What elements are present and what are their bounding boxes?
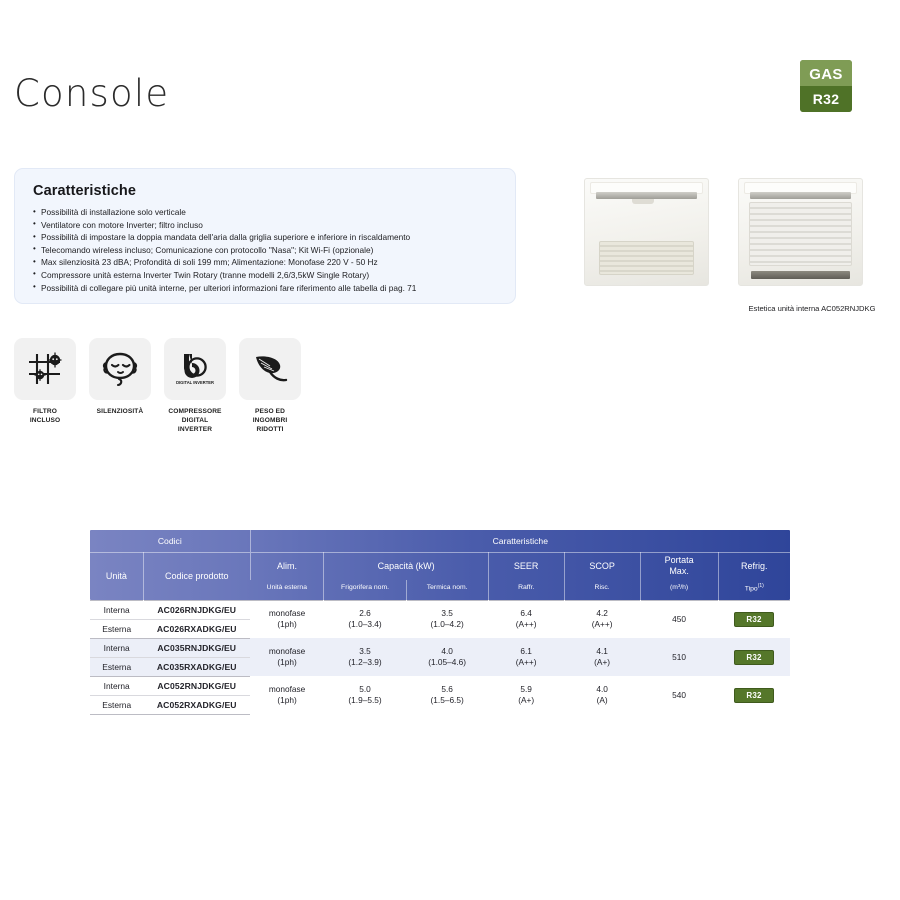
product-photo-front [578, 172, 715, 292]
feature-icon-label: SILENZIOSITÀ [89, 407, 151, 416]
feature-item: Ventilatore con motore Inverter; filtro … [33, 219, 497, 232]
feature-icon-silenziosita: SILENZIOSITÀ [89, 338, 151, 434]
cell-unita: Esterna [90, 619, 143, 638]
cell-unita: Interna [90, 676, 143, 695]
header-refrig: Refrig. [718, 552, 790, 580]
tipo-footnote-marker: (1) [758, 583, 764, 589]
feature-icon-label: FILTROINCLUSO [14, 407, 76, 425]
header-group-codici: Codici [90, 530, 250, 552]
cell-codice: AC035RXADKG/EU [143, 657, 250, 676]
unit-body [584, 178, 709, 286]
features-title: Caratteristiche [33, 183, 497, 199]
cell-codice: AC026RNJDKG/EU [143, 600, 250, 619]
cell-seer: 6.1(A++) [488, 638, 564, 676]
photo-caption: Estetica unità interna AC052RNJDKG [732, 304, 892, 313]
table-row: Interna AC026RNJDKG/EU monofase(1ph) 2.6… [90, 600, 790, 619]
cell-alim: monofase(1ph) [250, 600, 324, 638]
subheader-frigorifera: Frigorifera nom. [324, 580, 406, 600]
cell-codice: AC052RNJDKG/EU [143, 676, 250, 695]
header-unita: Unità [90, 552, 143, 600]
cell-capacita-frigorifera: 3.5(1.2–3.9) [324, 638, 406, 676]
cell-scop: 4.1(A+) [564, 638, 640, 676]
table-body: Interna AC026RNJDKG/EU monofase(1ph) 2.6… [90, 600, 790, 714]
cell-portata: 450 [640, 600, 718, 638]
cell-portata: 540 [640, 676, 718, 714]
feature-icon-compressore: DIGITAL INVERTER COMPRESSOREDIGITAL INVE… [164, 338, 226, 434]
badge-gas-section: GAS [800, 60, 852, 88]
icon-tile: DIGITAL INVERTER [164, 338, 226, 400]
icon-tile [14, 338, 76, 400]
cell-capacita-frigorifera: 5.0(1.9–5.5) [324, 676, 406, 714]
badge-r32-label: R32 [813, 91, 840, 107]
feature-icons-row: FILTROINCLUSO SILENZIOSITÀ DIGITAL INVER… [14, 338, 301, 434]
feature-icon-filtro: FILTROINCLUSO [14, 338, 76, 434]
cell-scop: 4.0(A) [564, 676, 640, 714]
cell-capacita-termica: 5.6(1.5–6.5) [406, 676, 488, 714]
header-capacita: Capacità (kW) [324, 552, 488, 580]
icon-tile [89, 338, 151, 400]
feature-icon-label: PESO EDINGOMBRIRIDOTTI [239, 407, 301, 434]
unit-air-outlet [596, 192, 697, 199]
subheader-tipo-text: Tipo [745, 585, 758, 592]
cell-capacita-termica: 3.5(1.0–4.2) [406, 600, 488, 638]
cell-unita: Esterna [90, 695, 143, 714]
cell-seer: 6.4(A++) [488, 600, 564, 638]
feature-item: Telecomando wireless incluso; Comunicazi… [33, 244, 497, 257]
gas-r32-badge: GAS R32 [800, 60, 852, 112]
header-group-row: Codici Caratteristiche [90, 530, 790, 552]
subheader-raffr: Raffr. [488, 580, 564, 600]
badge-r32-section: R32 [800, 86, 852, 112]
header-portata-max: PortataMax. [640, 552, 718, 580]
subheader-tipo: Tipo(1) [718, 580, 790, 600]
feature-item: Possibilità di collegare più unità inter… [33, 282, 497, 295]
cell-alim: monofase(1ph) [250, 676, 324, 714]
subheader-termica: Termica nom. [406, 580, 488, 600]
feature-item: Possibilità di impostare la doppia manda… [33, 231, 497, 244]
feature-icon-peso: PESO EDINGOMBRIRIDOTTI [239, 338, 301, 434]
refrigerant-badge: R32 [734, 612, 773, 627]
table-row: Interna AC052RNJDKG/EU monofase(1ph) 5.0… [90, 676, 790, 695]
feature-icon-label: COMPRESSOREDIGITAL INVERTER [164, 407, 226, 434]
cell-codice: AC035RNJDKG/EU [143, 638, 250, 657]
unit-front-grille [749, 202, 852, 266]
cell-refrig: R32 [718, 600, 790, 638]
cell-portata: 510 [640, 638, 718, 676]
header-scop: SCOP [564, 552, 640, 580]
header-seer: SEER [488, 552, 564, 580]
product-photo-grille [732, 172, 869, 292]
subheader-portata-unit: (m³/h) [640, 580, 718, 600]
unit-body [738, 178, 863, 286]
feature-item: Possibilità di installazione solo vertic… [33, 206, 497, 219]
cell-unita: Interna [90, 600, 143, 619]
cell-unita: Interna [90, 638, 143, 657]
page-title: Console [14, 72, 169, 115]
features-panel: Caratteristiche Possibilità di installaz… [14, 168, 516, 304]
cell-capacita-frigorifera: 2.6(1.0–3.4) [324, 600, 406, 638]
table-row: Interna AC035RNJDKG/EU monofase(1ph) 3.5… [90, 638, 790, 657]
cell-scop: 4.2(A++) [564, 600, 640, 638]
icon-tile [239, 338, 301, 400]
cell-codice: AC026RXADKG/EU [143, 619, 250, 638]
subheader-risc: Risc. [564, 580, 640, 600]
table-header: Codici Caratteristiche Unità Codice prod… [90, 530, 790, 600]
unit-bottom-vent [751, 271, 849, 279]
cell-seer: 5.9(A+) [488, 676, 564, 714]
features-list: Possibilità di installazione solo vertic… [33, 206, 497, 294]
refrigerant-badge: R32 [734, 688, 773, 703]
unit-lower-grille [599, 241, 695, 276]
unit-air-outlet [750, 192, 851, 199]
subheader-unita-esterna: Unità esterna [250, 580, 324, 600]
refrigerant-badge: R32 [734, 650, 773, 665]
filter-grid-icon [26, 350, 64, 388]
header-codice-prodotto: Codice prodotto [143, 552, 250, 600]
cell-refrig: R32 [718, 676, 790, 714]
feather-icon [250, 351, 290, 387]
cell-refrig: R32 [718, 638, 790, 676]
feature-item: Compressore unità esterna Inverter Twin … [33, 269, 497, 282]
cell-capacita-termica: 4.0(1.05–4.6) [406, 638, 488, 676]
cell-alim: monofase(1ph) [250, 638, 324, 676]
svg-text:DIGITAL INVERTER: DIGITAL INVERTER [176, 380, 214, 385]
cell-codice: AC052RXADKG/EU [143, 695, 250, 714]
header-group-caratteristiche: Caratteristiche [250, 530, 790, 552]
header-alim: Alim. [250, 552, 324, 580]
unit-handle [632, 199, 654, 204]
digital-inverter-icon: DIGITAL INVERTER [175, 349, 215, 389]
feature-item: Max silenziosità 23 dBA; Profondità di s… [33, 256, 497, 269]
sleeping-face-icon [100, 350, 140, 388]
header-main-row: Unità Codice prodotto Alim. Capacità (kW… [90, 552, 790, 580]
badge-gas-label: GAS [809, 66, 842, 83]
specifications-table: Codici Caratteristiche Unità Codice prod… [90, 530, 790, 715]
cell-unita: Esterna [90, 657, 143, 676]
